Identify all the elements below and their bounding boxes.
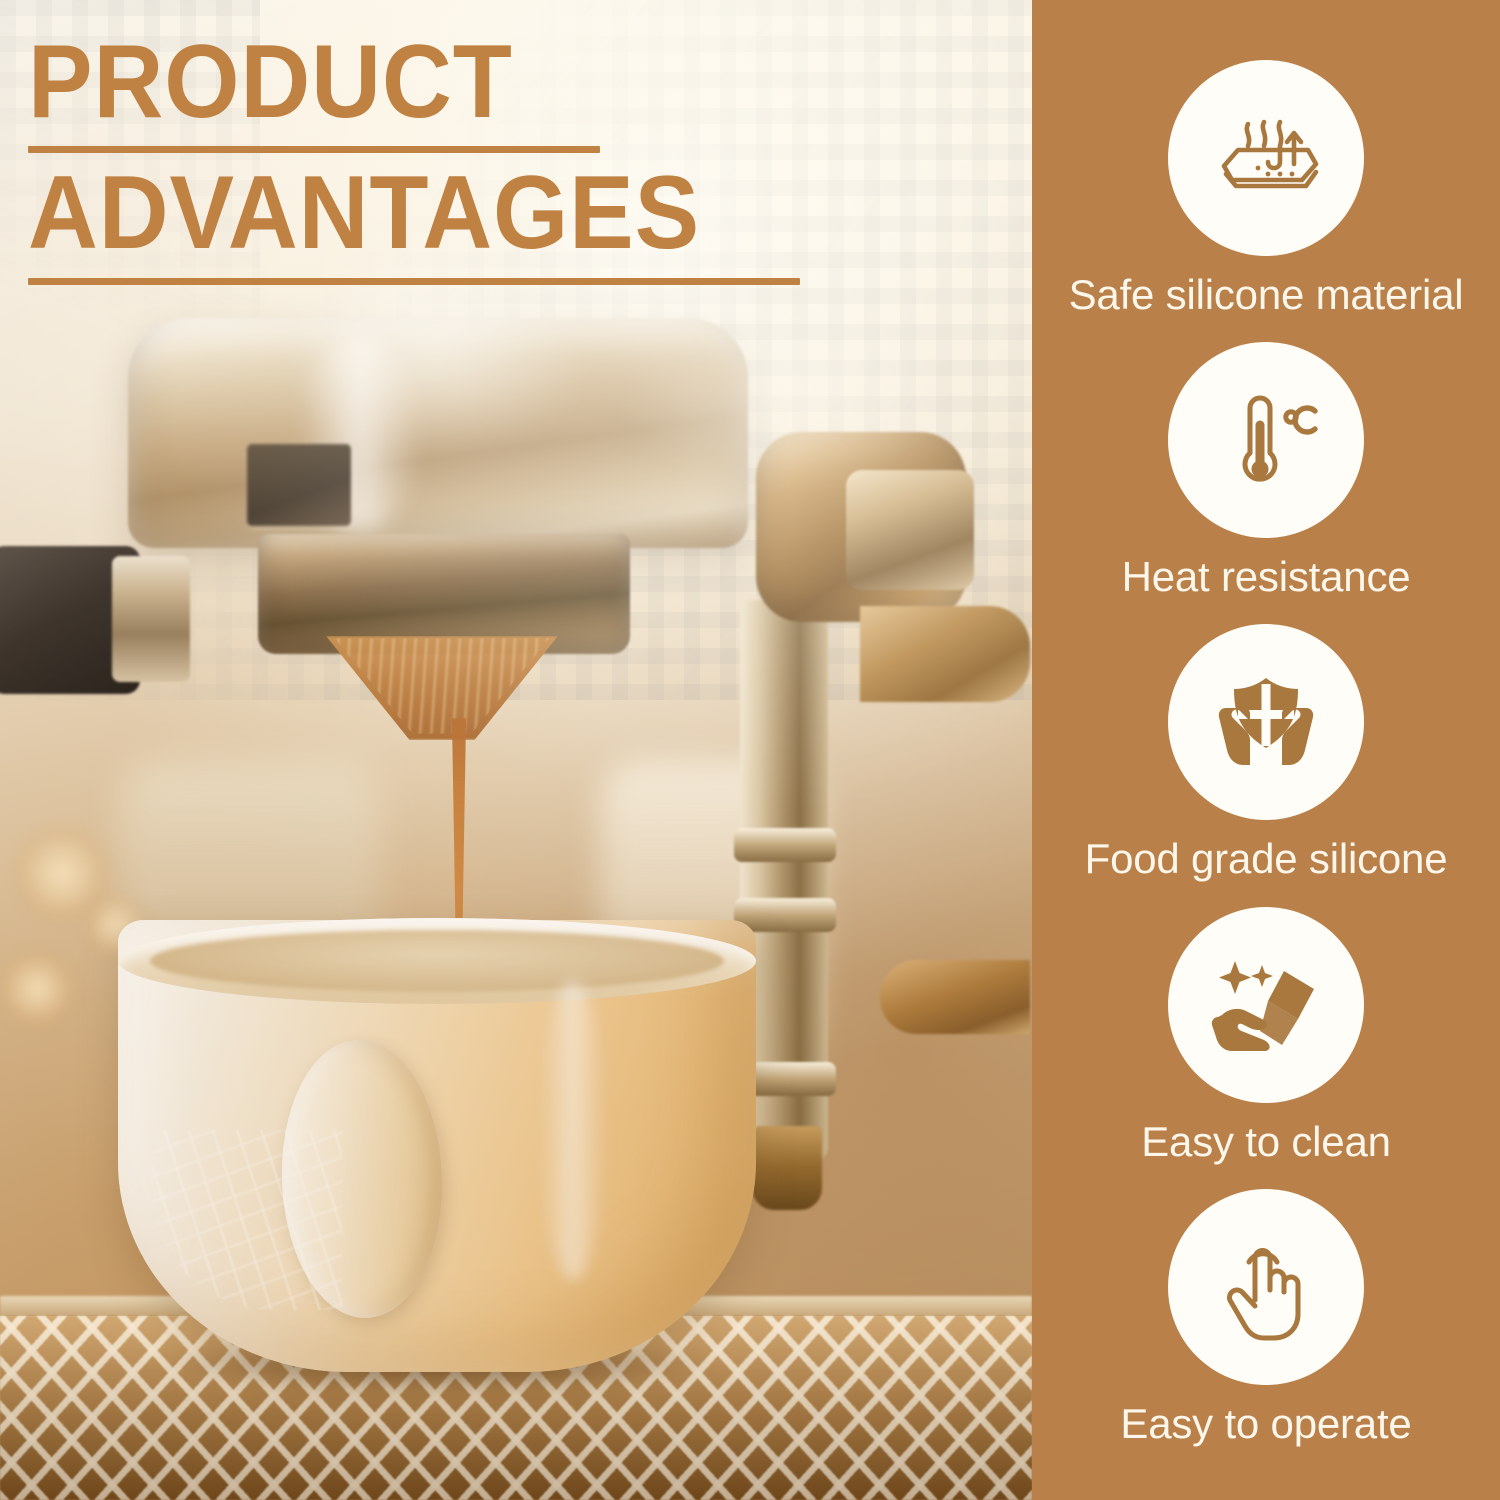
feature-item-food-grade-silicone: Food grade silicone — [1032, 624, 1500, 882]
title-divider-upper — [28, 146, 600, 153]
pipe-tip — [752, 1126, 822, 1210]
feature-label: Food grade silicone — [1085, 836, 1448, 882]
breathable-silicone-mat-icon — [1168, 60, 1364, 256]
hands-holding-shield-icon — [1168, 624, 1364, 820]
feature-item-easy-to-clean: Easy to clean — [1032, 907, 1500, 1165]
espresso-cone-striations — [330, 638, 554, 734]
coffee-cup-interior — [150, 930, 724, 992]
feature-label: Easy to operate — [1120, 1401, 1411, 1447]
group-head-dome — [128, 318, 748, 548]
brass-lever-lower — [880, 960, 1030, 1034]
page-title: PRODUCT ADVANTAGES — [28, 34, 848, 285]
dome-slot — [247, 444, 351, 526]
pipe-ring — [734, 828, 836, 862]
hand-sponge-sparkle-icon — [1168, 907, 1364, 1103]
feature-label: Safe silicone material — [1069, 272, 1464, 318]
title-line-advantages: ADVANTAGES — [28, 165, 791, 263]
tapping-hand-icon — [1168, 1189, 1364, 1385]
brass-nut — [846, 470, 974, 590]
product-advantages-banner: PRODUCT ADVANTAGES — [0, 0, 1500, 1500]
feature-item-easy-to-operate: Easy to operate — [1032, 1189, 1500, 1447]
coffee-cup-gloss — [540, 980, 606, 1280]
feature-item-heat-resistance: Heat resistance — [1032, 342, 1500, 600]
title-line-product: PRODUCT — [28, 34, 791, 132]
title-divider-lower — [28, 278, 800, 285]
brass-lever — [860, 606, 1030, 702]
portafilter-collar — [112, 556, 190, 682]
features-sidebar: Safe silicone material Heat resistance — [1032, 0, 1500, 1500]
feature-label: Heat resistance — [1122, 554, 1411, 600]
feature-label: Easy to clean — [1141, 1119, 1391, 1165]
feature-item-safe-silicone-material: Safe silicone material — [1032, 60, 1500, 318]
thermometer-celsius-icon — [1168, 342, 1364, 538]
